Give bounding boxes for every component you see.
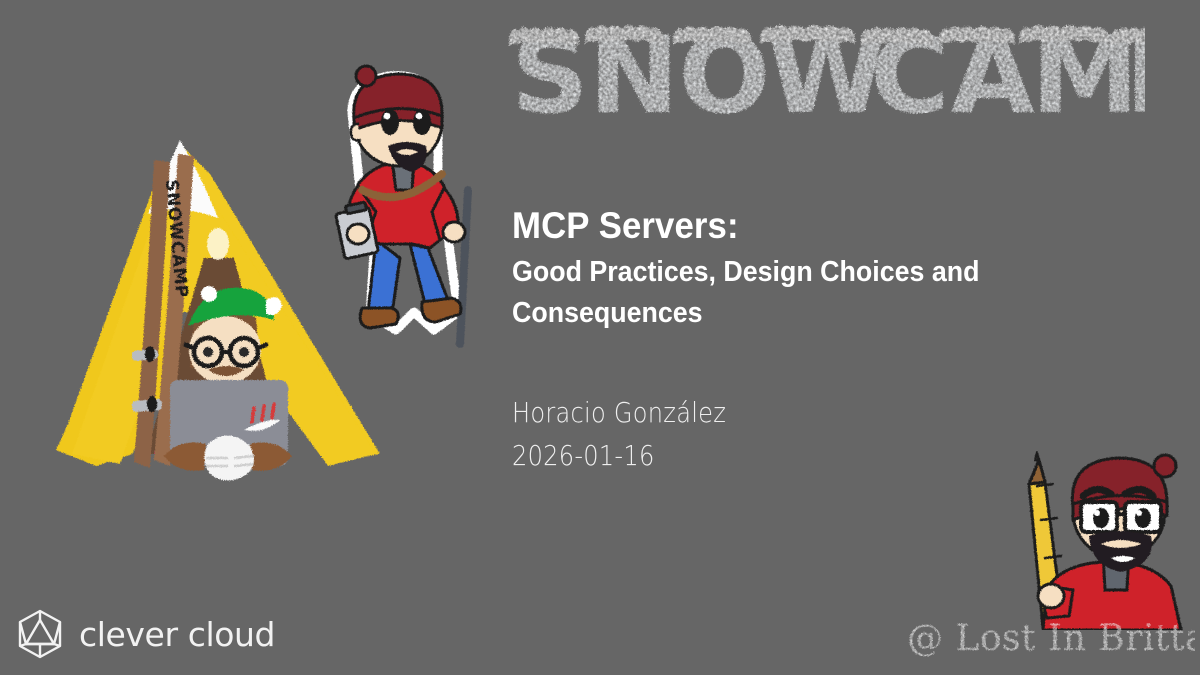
- beanie-pompom: [356, 66, 376, 86]
- hiker-character-illustration: [318, 62, 493, 357]
- clever-cloud-wordmark: clever cloud: [79, 615, 275, 654]
- clever-cloud-logo: clever cloud: [14, 608, 275, 660]
- slide-title-main: MCP Servers:: [512, 202, 1104, 249]
- author-name: Horacio González: [512, 392, 942, 435]
- social-handle: @ Lost In Brittany: [905, 612, 1195, 664]
- walking-pole: [460, 190, 468, 344]
- icosahedron-icon: [14, 608, 66, 660]
- beanie-pompom: [1154, 455, 1176, 477]
- slide-title-subtitle-line2: Consequences: [512, 293, 1104, 333]
- social-handle-text: @ Lost In Brittany: [907, 618, 1195, 659]
- snowcamp-logo: S N O W C A M P: [505, 8, 1145, 133]
- slide-byline-block: Horacio González 2026-01-16: [512, 392, 1012, 477]
- presentation-slide: S N O W C A M P: [0, 0, 1200, 675]
- lost-in-brittany-avatar-illustration: [985, 440, 1200, 630]
- slide-title-subtitle-line1: Good Practices, Design Choices and: [512, 252, 1104, 292]
- presentation-date: 2026-01-16: [512, 435, 942, 478]
- slide-title-block: MCP Servers: Good Practices, Design Choi…: [512, 202, 1142, 333]
